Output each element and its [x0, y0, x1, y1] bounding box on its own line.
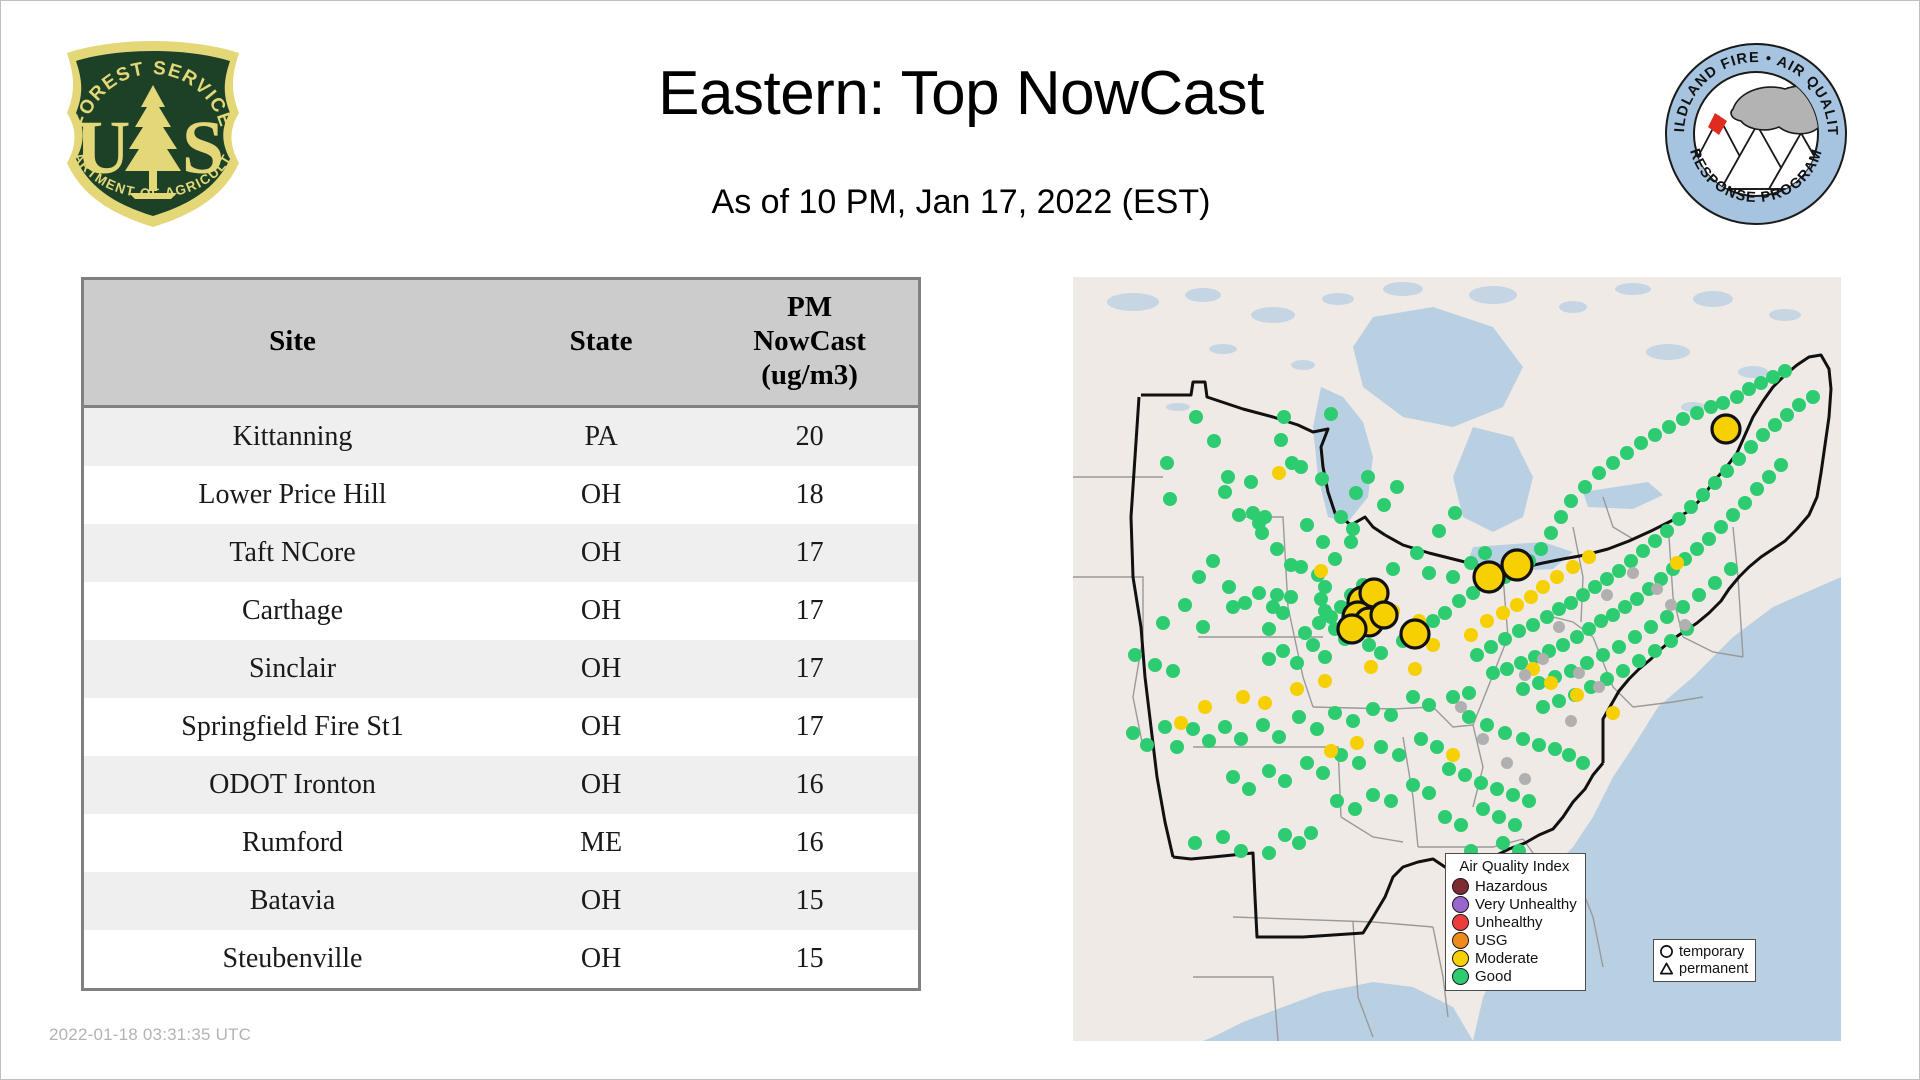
table-row: Steubenville OH 15 [84, 930, 918, 988]
map-top-site-batavia [1371, 602, 1397, 628]
cell-state: OH [501, 524, 701, 582]
aqi-legend-item-good: Good [1452, 967, 1577, 985]
aqi-legend-item-usg: USG [1452, 931, 1577, 949]
table-body: Kittanning PA 20 Lower Price Hill OH 18 … [84, 406, 918, 988]
cell-state: OH [501, 872, 701, 930]
table-row: Kittanning PA 20 [84, 406, 918, 466]
table-row: Taft NCore OH 17 [84, 524, 918, 582]
cell-value: 15 [701, 872, 918, 930]
aqi-legend-title: Air Quality Index [1452, 858, 1577, 875]
triangle-outline-icon [1659, 961, 1674, 976]
cell-site: Springfield Fire St1 [84, 698, 501, 756]
map-top-site-odot-ironton [1401, 620, 1429, 648]
aqi-label-very-unhealthy: Very Unhealthy [1475, 896, 1577, 913]
cell-site: Steubenville [84, 930, 501, 988]
column-header-pm-line1: PM [701, 290, 918, 324]
table-header-row: Site State PM NowCast (ug/m3) [84, 280, 918, 406]
cell-value: 15 [701, 930, 918, 988]
cell-site: Lower Price Hill [84, 466, 501, 524]
aqi-label-usg: USG [1475, 932, 1508, 949]
report-page: FOREST SERVICE DEPARTMENT OF AGRICULTURE… [0, 0, 1920, 1080]
cell-site: Batavia [84, 872, 501, 930]
table-row: Carthage OH 17 [84, 582, 918, 640]
page-title: Eastern: Top NowCast [1, 61, 1920, 126]
cell-state: PA [501, 406, 701, 466]
cell-value: 16 [701, 814, 918, 872]
cell-value: 17 [701, 582, 918, 640]
cell-value: 18 [701, 466, 918, 524]
cell-value: 17 [701, 698, 918, 756]
column-header-site: Site [84, 280, 501, 406]
aqi-label-good: Good [1475, 968, 1512, 985]
table-row: ODOT Ironton OH 16 [84, 756, 918, 814]
cell-value: 17 [701, 640, 918, 698]
map-top-site-steubenville [1474, 562, 1504, 592]
cell-site: Taft NCore [84, 524, 501, 582]
top-nowcast-table: Site State PM NowCast (ug/m3) Kittanning… [81, 277, 921, 991]
site-type-legend: temporary permanent [1653, 939, 1756, 982]
table-row: Sinclair OH 17 [84, 640, 918, 698]
aqi-legend-item-moderate: Moderate [1452, 949, 1577, 967]
cell-value: 16 [701, 756, 918, 814]
site-type-label-temporary: temporary [1679, 944, 1744, 960]
aqi-legend-item-unhealthy: Unhealthy [1452, 913, 1577, 931]
cell-value: 17 [701, 524, 918, 582]
column-header-pm-line3: (ug/m3) [701, 358, 918, 392]
site-type-label-permanent: permanent [1679, 961, 1748, 977]
cell-value: 20 [701, 406, 918, 466]
cell-state: OH [501, 698, 701, 756]
map-top-site-kittanning [1502, 550, 1532, 580]
aqi-swatch-hazardous [1452, 878, 1469, 895]
column-header-state: State [501, 280, 701, 406]
cell-state: OH [501, 466, 701, 524]
cell-state: OH [501, 582, 701, 640]
cell-state: OH [501, 756, 701, 814]
table-row: Springfield Fire St1 OH 17 [84, 698, 918, 756]
page-subtitle: As of 10 PM, Jan 17, 2022 (EST) [1, 183, 1920, 222]
aqi-swatch-very-unhealthy [1452, 896, 1469, 913]
cell-state: OH [501, 930, 701, 988]
cell-state: OH [501, 640, 701, 698]
cell-site: ODOT Ironton [84, 756, 501, 814]
cell-site: Carthage [84, 582, 501, 640]
aqi-swatch-good [1452, 968, 1469, 985]
aqi-swatch-moderate [1452, 950, 1469, 967]
site-type-legend-item-permanent: permanent [1659, 960, 1748, 977]
aqi-legend-item-very-unhealthy: Very Unhealthy [1452, 895, 1577, 913]
site-type-legend-item-temporary: temporary [1659, 943, 1748, 960]
table-row: Batavia OH 15 [84, 872, 918, 930]
map-top-site-rumford [1712, 415, 1740, 443]
aqi-swatch-unhealthy [1452, 914, 1469, 931]
cell-site: Rumford [84, 814, 501, 872]
generation-timestamp: 2022-01-18 03:31:35 UTC [49, 1025, 251, 1045]
aqi-legend-item-hazardous: Hazardous [1452, 877, 1577, 895]
column-header-pm-nowcast: PM NowCast (ug/m3) [701, 280, 918, 406]
cell-site: Sinclair [84, 640, 501, 698]
table-row: Lower Price Hill OH 18 [84, 466, 918, 524]
aqi-label-hazardous: Hazardous [1475, 878, 1548, 895]
column-header-pm-line2: NowCast [701, 324, 918, 358]
cell-state: ME [501, 814, 701, 872]
aqi-legend: Air Quality Index Hazardous Very Unhealt… [1445, 853, 1586, 991]
aqi-label-unhealthy: Unhealthy [1475, 914, 1543, 931]
aqi-label-moderate: Moderate [1475, 950, 1538, 967]
circle-outline-icon [1659, 944, 1674, 959]
map-top-site-lower-price-hill [1338, 615, 1366, 643]
cell-site: Kittanning [84, 406, 501, 466]
aqi-swatch-usg [1452, 932, 1469, 949]
table-row: Rumford ME 16 [84, 814, 918, 872]
